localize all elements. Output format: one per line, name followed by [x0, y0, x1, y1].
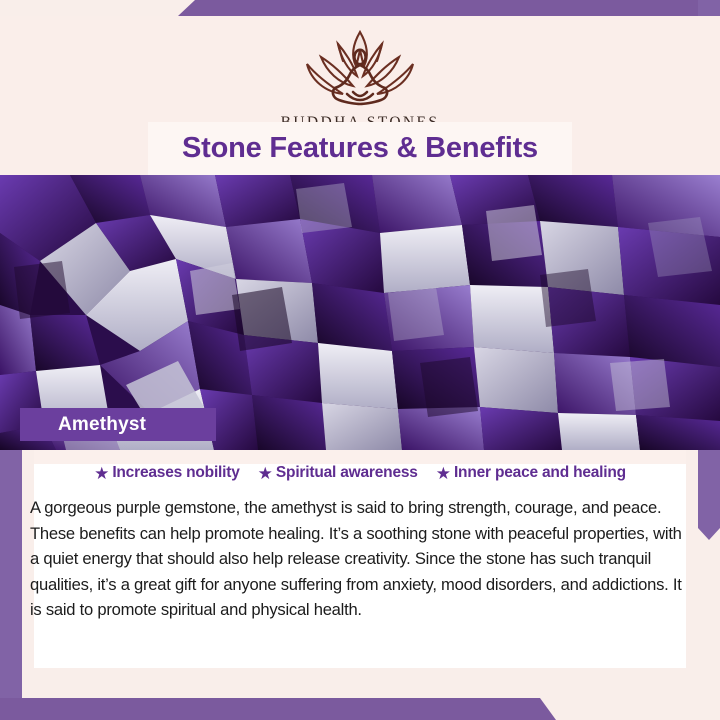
benefits-list: ★ Increases nobility ★ Spiritual awarene…: [34, 464, 686, 482]
benefit-label: Inner peace and healing: [454, 464, 626, 482]
title-banner: Stone Features & Benefits: [148, 122, 572, 175]
card-top-fade: [34, 450, 686, 464]
benefit-item: ★ Increases nobility: [94, 464, 240, 482]
benefit-item: ★ Spiritual awareness: [258, 464, 418, 482]
star-icon: ★: [258, 465, 273, 482]
stone-name-tag: Amethyst: [20, 408, 216, 441]
decorative-top-band: [0, 0, 720, 16]
benefit-label: Spiritual awareness: [276, 464, 418, 482]
product-info-card: BUDDHA STONES Stone Features & Benefits: [0, 0, 720, 720]
star-icon: ★: [94, 465, 109, 482]
brand-logo: BUDDHA STONES: [0, 24, 720, 132]
benefit-label: Increases nobility: [112, 464, 239, 482]
decorative-left-strip: [0, 438, 22, 720]
lotus-meditation-icon: [285, 24, 435, 112]
header: BUDDHA STONES Stone Features & Benefits: [0, 16, 720, 175]
benefit-item: ★ Inner peace and healing: [436, 464, 626, 482]
decorative-bottom-band: [0, 698, 720, 720]
content-card: ★ Increases nobility ★ Spiritual awarene…: [34, 450, 686, 668]
star-icon: ★: [436, 465, 451, 482]
stone-name-label: Amethyst: [20, 414, 146, 436]
stone-description: A gorgeous purple gemstone, the amethyst…: [30, 495, 690, 623]
page-title: Stone Features & Benefits: [182, 132, 538, 165]
